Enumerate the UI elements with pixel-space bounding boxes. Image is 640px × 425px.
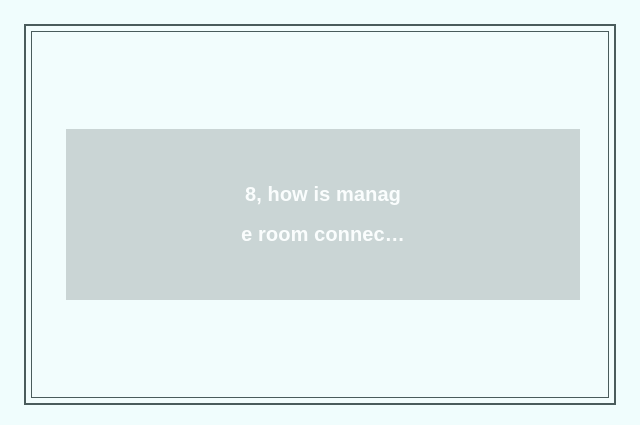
placeholder-caption: 8, how is manag e room connec… bbox=[223, 175, 423, 255]
card-outer-frame: 8, how is manag e room connec… bbox=[24, 24, 616, 405]
image-placeholder[interactable]: 8, how is manag e room connec… bbox=[66, 129, 580, 300]
card-inner-frame: 8, how is manag e room connec… bbox=[31, 31, 609, 398]
placeholder-caption-line-2: e room connec… bbox=[223, 215, 423, 255]
placeholder-caption-line-1: 8, how is manag bbox=[223, 175, 423, 215]
